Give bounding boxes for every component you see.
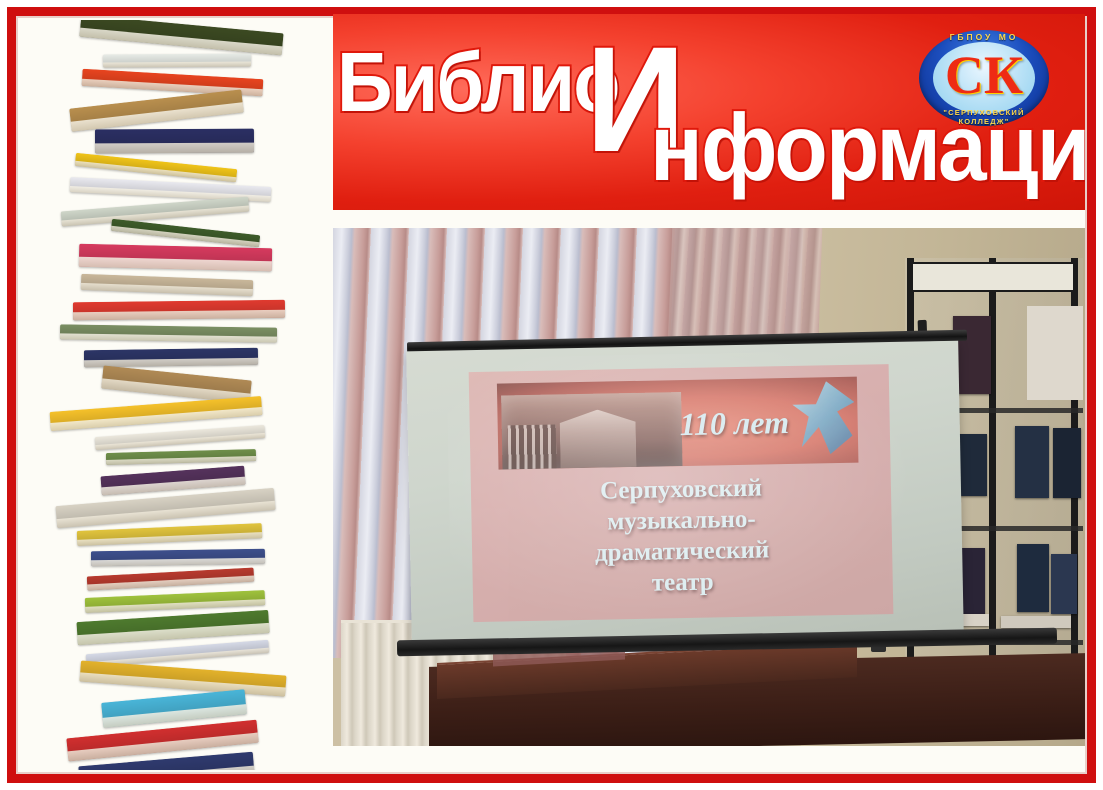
book-pages-edge: [95, 432, 265, 450]
book-pages-edge: [103, 61, 251, 67]
cabinet-book: [1015, 426, 1049, 498]
book-pages-edge: [91, 557, 265, 566]
projection-screen: 110 лет Серпуховский музыкально- драмати…: [406, 341, 964, 644]
slide-anniversary-text: 110 лет: [679, 404, 789, 443]
book-pages-edge: [95, 143, 254, 154]
slide-header-image: 110 лет: [497, 377, 859, 470]
book: [76, 610, 269, 645]
book: [95, 129, 254, 154]
header-banner: Библио И нформация ГБПОУ МО СК "СЕРПУХОВ…: [333, 14, 1085, 210]
book: [69, 89, 243, 131]
masthead-word-biblio: Библио: [337, 48, 619, 117]
book-pages-edge: [87, 576, 254, 591]
logo-bottom-text: "СЕРПУХОВСКИЙ КОЛЛЕДЖ": [919, 108, 1049, 126]
book: [55, 488, 275, 528]
book: [84, 348, 258, 367]
poster-root: Библио И нформация ГБПОУ МО СК "СЕРПУХОВ…: [0, 0, 1103, 790]
cabinet-book: [1051, 554, 1077, 614]
book: [60, 324, 277, 342]
book: [85, 590, 265, 613]
book: [77, 523, 262, 546]
book: [79, 20, 283, 55]
book-pages-edge: [79, 766, 254, 770]
book: [80, 660, 287, 696]
theatre-building-photo: [501, 392, 682, 469]
theatre-emblem-icon: [792, 381, 855, 458]
book: [61, 197, 250, 227]
book: [106, 449, 256, 465]
cabinet-header-panel: [911, 262, 1075, 292]
book-pages-edge: [79, 27, 282, 55]
book-pages-edge: [81, 283, 253, 296]
book-pages-edge: [73, 310, 285, 320]
logo-top-text: ГБПОУ МО: [919, 32, 1049, 42]
book: [50, 396, 263, 431]
presentation-slide: 110 лет Серпуховский музыкально- драмати…: [469, 364, 894, 622]
book: [87, 567, 255, 590]
cabinet-book-flat: [1001, 616, 1071, 628]
book: [81, 274, 253, 296]
book: [100, 466, 245, 496]
book-pages-edge: [111, 226, 260, 248]
slide-caption-line-4: театр: [490, 563, 875, 601]
book: [103, 54, 251, 68]
logo-monogram: СК: [919, 48, 1049, 102]
stack-of-books-illustration: [20, 20, 328, 770]
book-pages-edge: [80, 673, 286, 697]
book-pages-edge: [79, 257, 272, 271]
cabinet-book: [1053, 428, 1081, 498]
book-pages-edge: [60, 333, 277, 343]
cabinet-poster: [1027, 306, 1083, 400]
college-logo: ГБПОУ МО СК "СЕРПУХОВСКИЙ КОЛЛЕДЖ": [919, 22, 1049, 132]
event-photograph: 110 лет Серпуховский музыкально- драмати…: [333, 228, 1085, 746]
book: [111, 219, 260, 247]
book-pages-edge: [106, 456, 256, 465]
book-pages-edge: [77, 532, 262, 546]
slide-caption: Серпуховский музыкально- драматический т…: [489, 470, 875, 601]
book: [95, 425, 265, 450]
book: [79, 244, 272, 271]
cabinet-book: [1017, 544, 1049, 612]
book: [91, 549, 265, 567]
book-pages-edge: [71, 103, 244, 132]
book: [73, 300, 285, 321]
